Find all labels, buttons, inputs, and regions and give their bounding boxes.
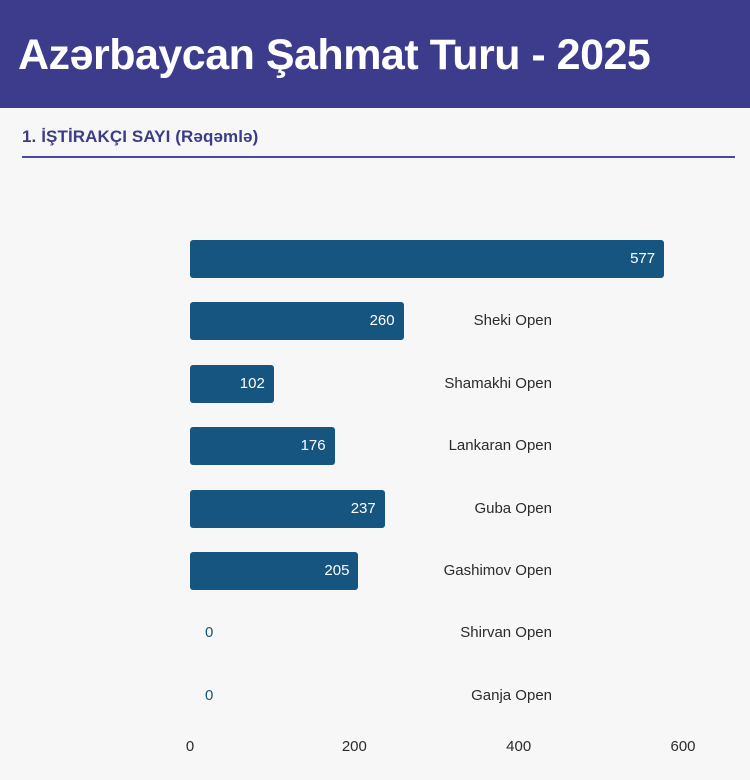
bar-value-label: 176 <box>301 427 326 465</box>
chart-page: Azərbaycan Şahmat Turu - 2025 1. İŞTİRAK… <box>0 0 750 780</box>
bar: 102 <box>190 365 274 403</box>
chart-bar-row: Ganja Open0 <box>190 677 750 715</box>
chart-bar-row: Guba Open237 <box>190 490 750 528</box>
x-axis-tick-label: 400 <box>506 737 531 757</box>
chart-bar-row: Gashimov Open205 <box>190 552 750 590</box>
participants-bar-chart: Baku Open577Sheki Open260Shamakhi Open10… <box>0 0 750 780</box>
bar-value-label: 102 <box>240 365 265 403</box>
bar-category-label: Ganja Open <box>292 677 552 715</box>
chart-bar-row: Shirvan Open0 <box>190 614 750 652</box>
bar: 205 <box>190 552 358 590</box>
bar-value-label: 260 <box>370 302 395 340</box>
chart-bar-row: Shamakhi Open102 <box>190 365 750 403</box>
bar-category-label: Shirvan Open <box>292 614 552 652</box>
bar: 260 <box>190 302 404 340</box>
bar-value-label: 577 <box>630 240 655 278</box>
x-axis-tick-label: 0 <box>186 737 194 757</box>
bar-value-label: 0 <box>205 677 213 715</box>
chart-plot-area: Baku Open577Sheki Open260Shamakhi Open10… <box>190 228 750 728</box>
bar-value-label: 0 <box>205 614 213 652</box>
chart-bar-row: Baku Open577 <box>190 240 750 278</box>
bar-value-label: 237 <box>351 490 376 528</box>
bar: 237 <box>190 490 385 528</box>
chart-bar-row: Lankaran Open176 <box>190 427 750 465</box>
bar-value-label: 205 <box>324 552 349 590</box>
bar: 176 <box>190 427 335 465</box>
x-axis-tick-label: 600 <box>670 737 695 757</box>
bar-category-label: Shamakhi Open <box>292 365 552 403</box>
x-axis-tick-label: 200 <box>342 737 367 757</box>
x-axis: 0200400600 <box>190 737 750 761</box>
bar: 577 <box>190 240 664 278</box>
chart-bar-row: Sheki Open260 <box>190 302 750 340</box>
